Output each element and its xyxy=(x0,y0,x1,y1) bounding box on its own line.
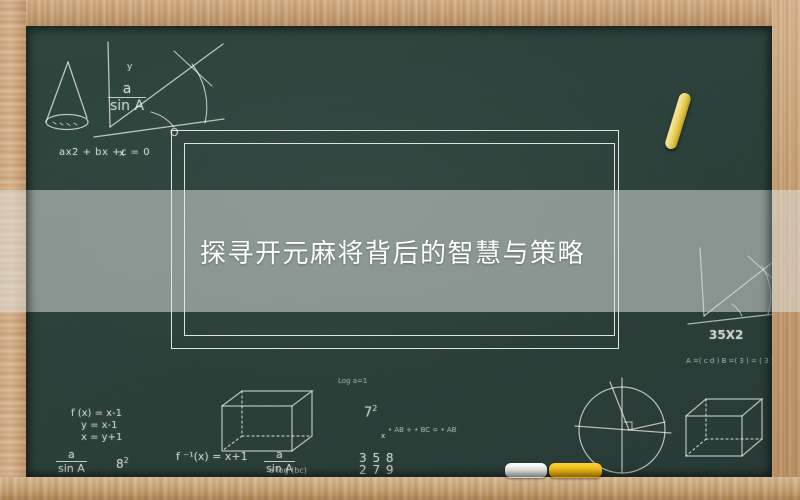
chalk-law-of-sines-2: a sin A xyxy=(56,448,87,475)
chalk-function-f: f (x) = x-1 y = x-1 x = y+1 xyxy=(71,408,122,444)
chalk-log-small: Log a=1 xyxy=(338,377,367,385)
chalk-matrix-expression: A =( c d ) B =( 3 ) = ( 3 ) xyxy=(686,357,772,365)
white-chalk-stick-icon[interactable] xyxy=(505,463,547,478)
title-overlay-band: 探寻开元麻将背后的智慧与策略 xyxy=(0,190,800,312)
chalk-addition-sum: 3 5 8 2 7 9 6 3 7 xyxy=(359,452,399,477)
chalk-power-7: 72 xyxy=(364,404,377,420)
chalk-power-8: 82 xyxy=(116,456,129,471)
page-title: 探寻开元麻将背后的智慧与策略 xyxy=(200,233,585,270)
chalk-vector-identity: • AB + • BC = • AB xyxy=(388,426,456,434)
chalk-inverse-function: f ⁻¹(x) = x+1 xyxy=(176,450,248,463)
yellow-chalk-stick-icon[interactable] xyxy=(549,463,602,478)
chalk-log-expression: a log (bc) xyxy=(269,466,307,475)
chalk-axis-x-label-2: x xyxy=(381,432,385,440)
chalkboard-banner: y x O a sin A ax2 + bx +c = 0 xyxy=(0,0,800,500)
frame-bottom-ledge xyxy=(0,477,800,500)
frame-top xyxy=(0,0,800,26)
